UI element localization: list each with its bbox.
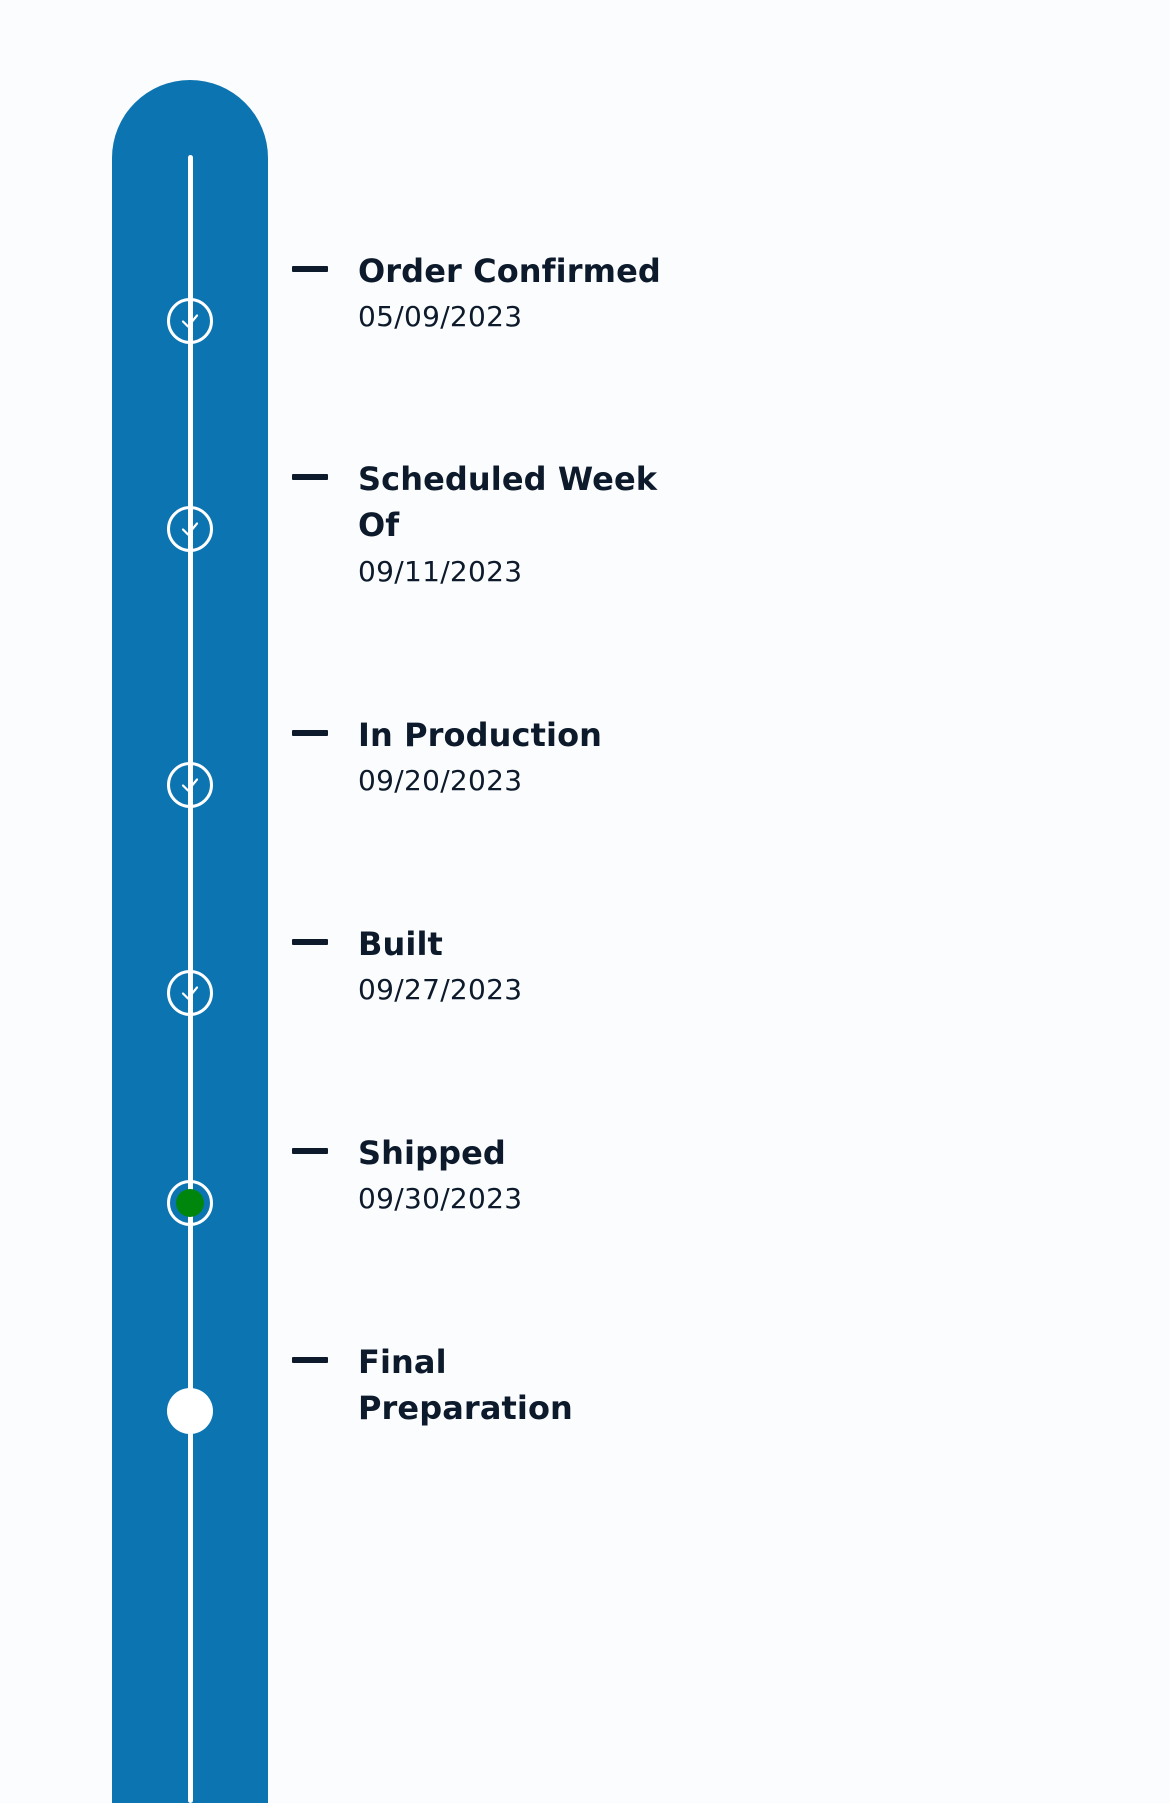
step-marker-final-preparation[interactable]	[167, 1388, 213, 1434]
step-built[interactable]: Built 09/27/2023	[292, 921, 522, 1011]
step-shipped[interactable]: Shipped 09/30/2023	[292, 1130, 522, 1220]
step-dash-icon	[292, 1148, 328, 1154]
step-dash-icon	[292, 474, 328, 480]
step-date: 09/27/2023	[358, 969, 522, 1011]
step-text-group: In Production 09/20/2023	[358, 712, 602, 802]
check-icon	[178, 773, 202, 797]
step-in-production[interactable]: In Production 09/20/2023	[292, 712, 602, 802]
step-date: 05/09/2023	[358, 296, 661, 338]
check-icon	[178, 981, 202, 1005]
step-title: Built	[358, 921, 522, 967]
step-date: 09/30/2023	[358, 1178, 522, 1220]
step-title: Order Confirmed	[358, 248, 661, 294]
step-date: 09/20/2023	[358, 760, 602, 802]
step-text-group: Order Confirmed 05/09/2023	[358, 248, 661, 338]
step-text-group: Shipped 09/30/2023	[358, 1130, 522, 1220]
step-date: 09/11/2023	[358, 551, 668, 593]
step-text-group: Built 09/27/2023	[358, 921, 522, 1011]
step-order-confirmed[interactable]: Order Confirmed 05/09/2023	[292, 248, 661, 338]
step-marker-order-confirmed[interactable]	[167, 298, 213, 344]
step-title: Final Preparation	[358, 1339, 608, 1432]
step-dash-icon	[292, 730, 328, 736]
step-marker-shipped[interactable]	[167, 1180, 213, 1226]
step-title: Scheduled Week Of	[358, 456, 668, 549]
step-dash-icon	[292, 1357, 328, 1363]
step-text-group: Final Preparation	[358, 1339, 608, 1434]
order-status-tracker: Order Confirmed 05/09/2023 Scheduled Wee…	[0, 0, 1170, 1803]
step-title: In Production	[358, 712, 602, 758]
step-final-preparation[interactable]: Final Preparation	[292, 1339, 608, 1434]
step-dash-icon	[292, 266, 328, 272]
check-icon	[178, 517, 202, 541]
step-marker-built[interactable]	[167, 970, 213, 1016]
check-icon	[178, 309, 202, 333]
step-marker-scheduled-week-of[interactable]	[167, 506, 213, 552]
step-marker-in-production[interactable]	[167, 762, 213, 808]
step-text-group: Scheduled Week Of 09/11/2023	[358, 456, 668, 593]
step-scheduled-week-of[interactable]: Scheduled Week Of 09/11/2023	[292, 456, 668, 593]
step-title: Shipped	[358, 1130, 522, 1176]
step-dash-icon	[292, 939, 328, 945]
filled-green-dot-icon	[176, 1189, 204, 1217]
